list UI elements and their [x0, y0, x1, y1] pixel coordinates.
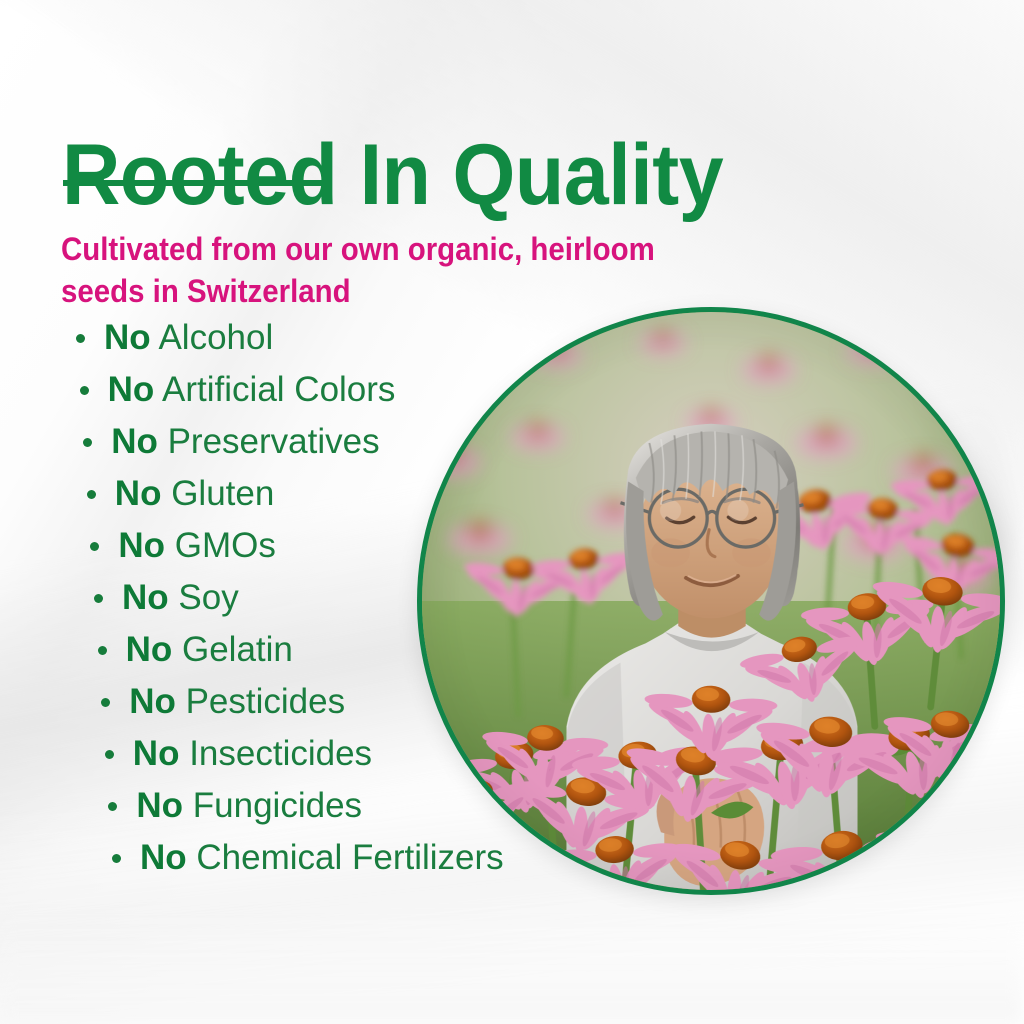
claim-prefix: No [118, 526, 165, 565]
claim-prefix: No [108, 370, 155, 409]
bullet-dot-icon [108, 802, 117, 811]
title-underline-rule [63, 180, 331, 186]
bullet-dot-icon [76, 334, 85, 343]
claim-prefix: No [140, 838, 187, 877]
bullet-dot-icon [87, 490, 96, 499]
page-subtitle: Cultivated from our own organic, heirloo… [61, 228, 733, 312]
photo-illustration [422, 312, 1000, 890]
claim-prefix: No [136, 786, 183, 825]
bullet-dot-icon [83, 438, 92, 447]
claim-label: Alcohol [158, 318, 273, 357]
bullet-dot-icon [105, 750, 114, 759]
claim-label: Fungicides [193, 786, 362, 825]
claim-label: Pesticides [186, 682, 346, 721]
page-title: Rooted In Quality [62, 132, 723, 218]
claim-label: Gelatin [182, 630, 293, 669]
claim-label: Artificial Colors [162, 370, 395, 409]
claim-label: Soy [178, 578, 238, 617]
claim-label: Chemical Fertilizers [196, 838, 503, 877]
claim-label: Preservatives [168, 422, 380, 461]
background-sheen-bottom [0, 905, 1024, 1024]
claim-label: Insecticides [189, 734, 372, 773]
bullet-dot-icon [94, 594, 103, 603]
bullet-dot-icon [112, 854, 121, 863]
bullet-dot-icon [90, 542, 99, 551]
bullet-dot-icon [101, 698, 110, 707]
claim-prefix: No [133, 734, 180, 773]
claim-prefix: No [115, 474, 162, 513]
claim-prefix: No [126, 630, 173, 669]
circular-photo [417, 307, 1005, 895]
claim-prefix: No [104, 318, 151, 357]
claim-prefix: No [111, 422, 158, 461]
claim-label: GMOs [175, 526, 276, 565]
claim-prefix: No [122, 578, 169, 617]
claim-prefix: No [129, 682, 176, 721]
claim-label: Gluten [171, 474, 274, 513]
bullet-dot-icon [98, 646, 107, 655]
bullet-dot-icon [80, 386, 89, 395]
poster-canvas: Rooted In Quality Cultivated from our ow… [0, 0, 1024, 1024]
